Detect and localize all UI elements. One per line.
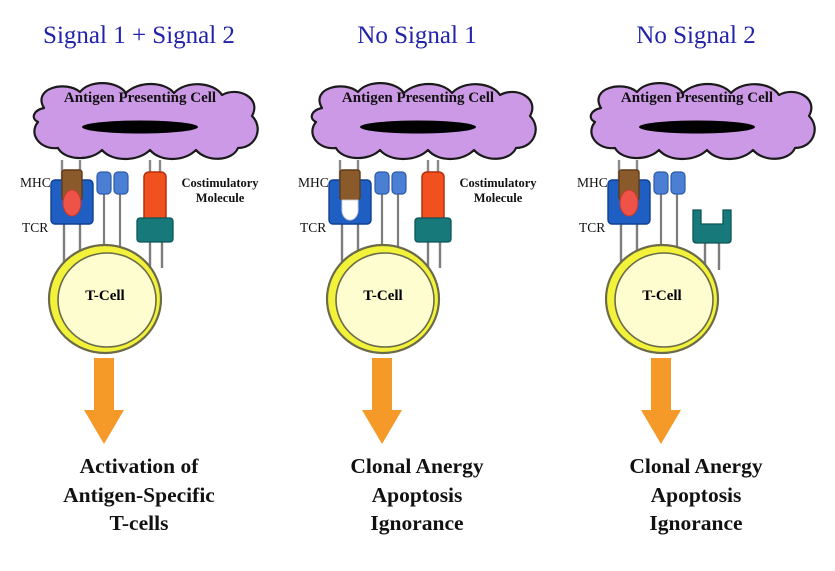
- t-cell: T-Cell: [602, 243, 722, 355]
- t-cell-activation-figure: Signal 1 + Signal 2 Antigen Presenting C…: [0, 0, 835, 571]
- panel-title: Signal 1 + Signal 2: [0, 22, 278, 50]
- mhc-molecule: [340, 170, 360, 200]
- panel-signal1-plus-signal2: Signal 1 + Signal 2 Antigen Presenting C…: [0, 0, 278, 571]
- apc-label: Antigen Presenting Cell: [14, 90, 266, 107]
- t-cell: T-Cell: [323, 243, 443, 355]
- t-cell: T-Cell: [45, 243, 165, 355]
- t-cell-label: T-Cell: [45, 288, 165, 305]
- costimulatory-receptor: [415, 218, 451, 242]
- apc-label: Antigen Presenting Cell: [571, 90, 823, 107]
- accessory-molecule-right: [392, 172, 406, 194]
- antigen-peptide: [620, 190, 638, 216]
- t-cell-label: T-Cell: [602, 288, 722, 305]
- panel-no-signal-1: No Signal 1 Antigen Presenting Cell MHC …: [278, 0, 556, 571]
- accessory-molecule-right: [114, 172, 128, 194]
- panel-no-signal-2: No Signal 2 Antigen Presenting Cell MHC …: [557, 0, 835, 571]
- outcome-arrow: [631, 358, 691, 444]
- outcome-arrow: [352, 358, 412, 444]
- outcome-arrow: [74, 358, 134, 444]
- outcome-text: Clonal Anergy Apoptosis Ignorance: [282, 452, 552, 538]
- panel-title: No Signal 2: [557, 22, 835, 50]
- outcome-text: Clonal Anergy Apoptosis Ignorance: [561, 452, 831, 538]
- costimulatory-receptor: [137, 218, 173, 242]
- apc-label: Antigen Presenting Cell: [292, 90, 544, 107]
- t-cell-label: T-Cell: [323, 288, 443, 305]
- panel-title: No Signal 1: [278, 22, 556, 50]
- accessory-molecule-left: [97, 172, 111, 194]
- antigen-peptide: [63, 190, 81, 216]
- accessory-molecule-left: [375, 172, 389, 194]
- empty-peptide-groove: [342, 200, 358, 220]
- unengaged-costimulatory-receptor: [693, 210, 731, 243]
- accessory-molecule-left: [654, 172, 668, 194]
- accessory-molecule-right: [671, 172, 685, 194]
- outcome-text: Activation of Antigen-Specific T-cells: [4, 452, 274, 538]
